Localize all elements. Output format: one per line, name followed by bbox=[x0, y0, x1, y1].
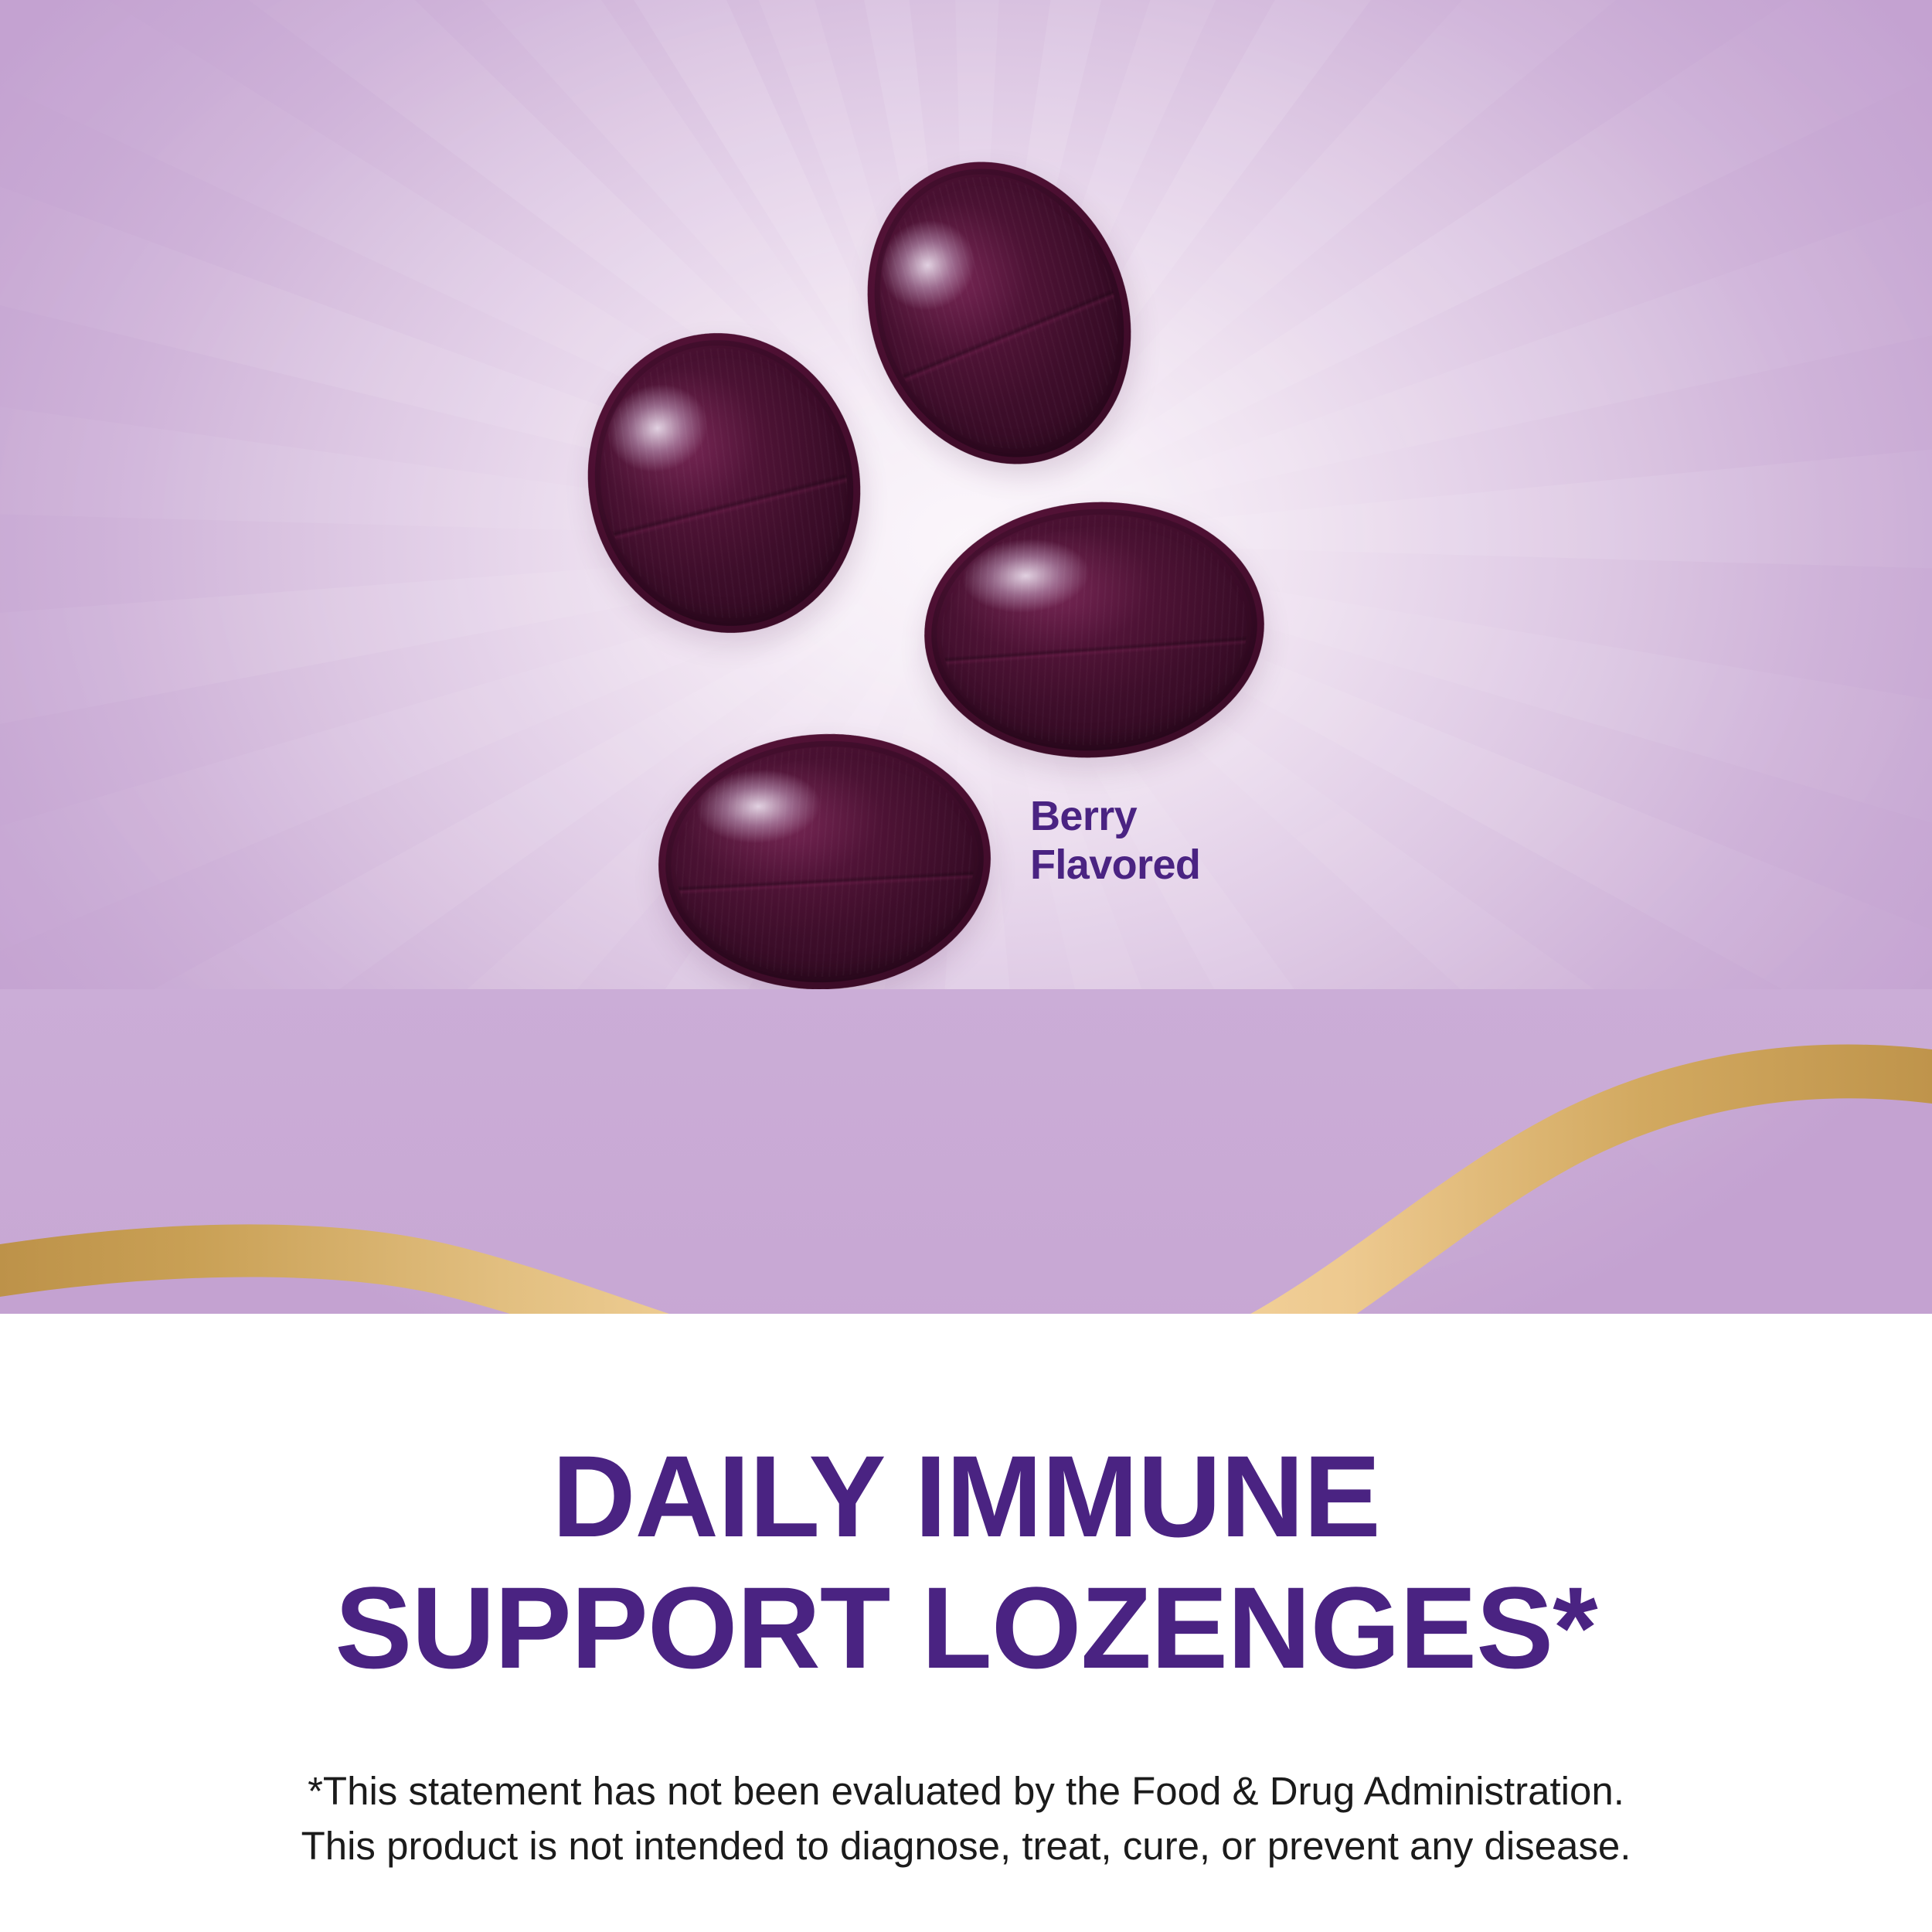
gold-wave-divider bbox=[0, 989, 1932, 1360]
product-marketing-image: Berry Flavored DAILY IMMUN bbox=[0, 0, 1932, 1932]
flavor-label: Berry Flavored bbox=[1030, 792, 1200, 889]
bottom-panel: DAILY IMMUNE SUPPORT LOZENGES* *This sta… bbox=[0, 1314, 1932, 1932]
page-title: DAILY IMMUNE SUPPORT LOZENGES* bbox=[0, 1431, 1932, 1693]
fda-disclaimer: *This statement has not been evaluated b… bbox=[0, 1764, 1932, 1874]
